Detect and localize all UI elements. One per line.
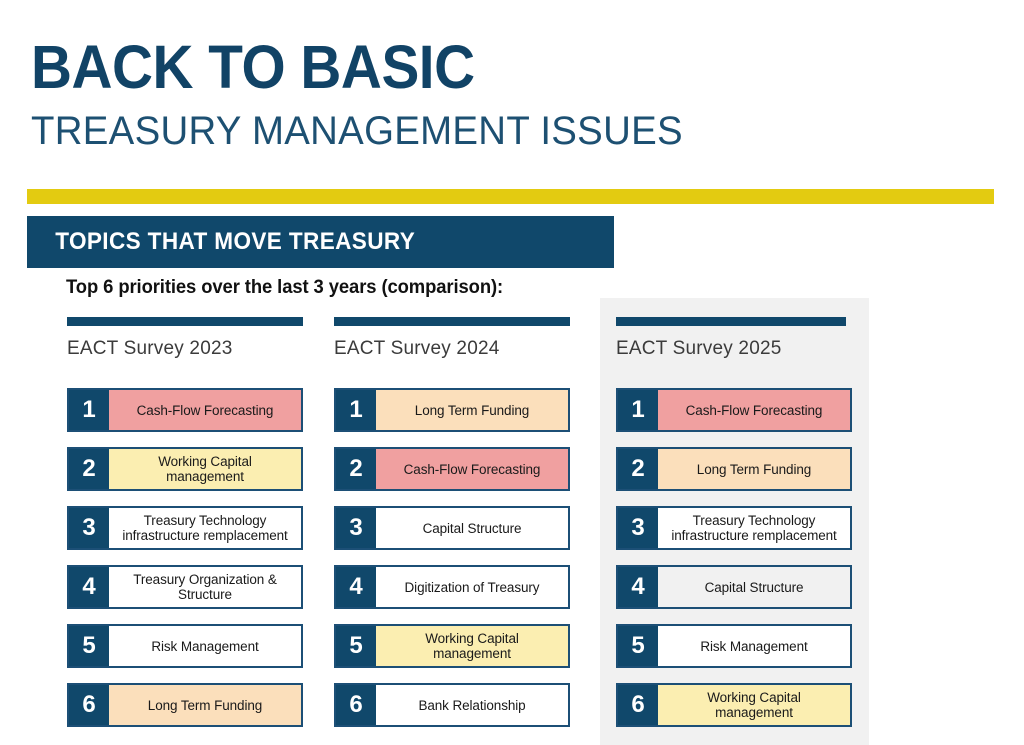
rank-row[interactable]: 3Capital Structure <box>334 506 570 550</box>
rank-list: 1Long Term Funding2Cash-Flow Forecasting… <box>334 388 570 727</box>
survey-column-2025: EACT Survey 2025 1Cash-Flow Forecasting2… <box>616 317 852 727</box>
rank-number: 2 <box>69 449 109 489</box>
rank-row[interactable]: 5Risk Management <box>67 624 303 668</box>
rank-label: Working Capital management <box>658 685 850 725</box>
rank-row[interactable]: 6Working Capital management <box>616 683 852 727</box>
rank-number: 1 <box>69 390 109 430</box>
rank-number: 4 <box>618 567 658 607</box>
yellow-divider-rule <box>27 189 994 204</box>
rank-number: 2 <box>618 449 658 489</box>
column-title: EACT Survey 2023 <box>67 338 303 360</box>
rank-number: 6 <box>336 685 376 725</box>
rank-row[interactable]: 3Treasury Technology infrastructure remp… <box>67 506 303 550</box>
column-rule <box>616 317 846 326</box>
rank-number: 1 <box>618 390 658 430</box>
rank-row[interactable]: 3Treasury Technology infrastructure remp… <box>616 506 852 550</box>
rank-label: Treasury Technology infrastructure rempl… <box>658 508 850 548</box>
column-rule <box>67 317 303 326</box>
rank-number: 3 <box>618 508 658 548</box>
rank-row[interactable]: 1Long Term Funding <box>334 388 570 432</box>
slide-canvas: BACK TO BASIC TREASURY MANAGEMENT ISSUES… <box>0 0 1024 745</box>
rank-label: Long Term Funding <box>658 449 850 489</box>
rank-list: 1Cash-Flow Forecasting2Long Term Funding… <box>616 388 852 727</box>
column-title: EACT Survey 2024 <box>334 338 570 360</box>
rank-row[interactable]: 1Cash-Flow Forecasting <box>616 388 852 432</box>
rank-number: 5 <box>69 626 109 666</box>
rank-number: 5 <box>336 626 376 666</box>
rank-label: Working Capital management <box>109 449 301 489</box>
column-title: EACT Survey 2025 <box>616 338 852 360</box>
rank-list: 1Cash-Flow Forecasting2Working Capital m… <box>67 388 303 727</box>
survey-column-2024: EACT Survey 2024 1Long Term Funding2Cash… <box>334 317 570 727</box>
rank-number: 1 <box>336 390 376 430</box>
rank-label: Treasury Organization & Structure <box>109 567 301 607</box>
rank-row[interactable]: 6Bank Relationship <box>334 683 570 727</box>
rank-number: 3 <box>69 508 109 548</box>
survey-column-2023: EACT Survey 2023 1Cash-Flow Forecasting2… <box>67 317 303 727</box>
rank-row[interactable]: 4Capital Structure <box>616 565 852 609</box>
rank-row[interactable]: 2Working Capital management <box>67 447 303 491</box>
rank-number: 3 <box>336 508 376 548</box>
rank-label: Long Term Funding <box>376 390 568 430</box>
rank-row[interactable]: 5Risk Management <box>616 624 852 668</box>
rank-label: Risk Management <box>658 626 850 666</box>
rank-label: Cash-Flow Forecasting <box>376 449 568 489</box>
rank-row[interactable]: 1Cash-Flow Forecasting <box>67 388 303 432</box>
rank-number: 6 <box>69 685 109 725</box>
rank-row[interactable]: 2Cash-Flow Forecasting <box>334 447 570 491</box>
rank-label: Long Term Funding <box>109 685 301 725</box>
rank-number: 2 <box>336 449 376 489</box>
rank-row[interactable]: 2Long Term Funding <box>616 447 852 491</box>
rank-label: Digitization of Treasury <box>376 567 568 607</box>
rank-label: Capital Structure <box>376 508 568 548</box>
page-title: BACK TO BASIC <box>31 35 475 99</box>
rank-label: Treasury Technology infrastructure rempl… <box>109 508 301 548</box>
rank-row[interactable]: 4Treasury Organization & Structure <box>67 565 303 609</box>
column-rule <box>334 317 570 326</box>
rank-label: Bank Relationship <box>376 685 568 725</box>
rank-label: Cash-Flow Forecasting <box>109 390 301 430</box>
rank-number: 6 <box>618 685 658 725</box>
rank-label: Risk Management <box>109 626 301 666</box>
rank-label: Capital Structure <box>658 567 850 607</box>
rank-row[interactable]: 5Working Capital management <box>334 624 570 668</box>
rank-label: Cash-Flow Forecasting <box>658 390 850 430</box>
section-header-banner: TOPICS THAT MOVE TREASURY <box>27 216 614 268</box>
rank-row[interactable]: 6Long Term Funding <box>67 683 303 727</box>
rank-number: 4 <box>69 567 109 607</box>
comparison-subtitle: Top 6 priorities over the last 3 years (… <box>66 277 503 299</box>
rank-label: Working Capital management <box>376 626 568 666</box>
rank-number: 5 <box>618 626 658 666</box>
section-header-label: TOPICS THAT MOVE TREASURY <box>27 228 415 256</box>
rank-number: 4 <box>336 567 376 607</box>
rank-row[interactable]: 4Digitization of Treasury <box>334 565 570 609</box>
page-subtitle: TREASURY MANAGEMENT ISSUES <box>31 109 683 153</box>
